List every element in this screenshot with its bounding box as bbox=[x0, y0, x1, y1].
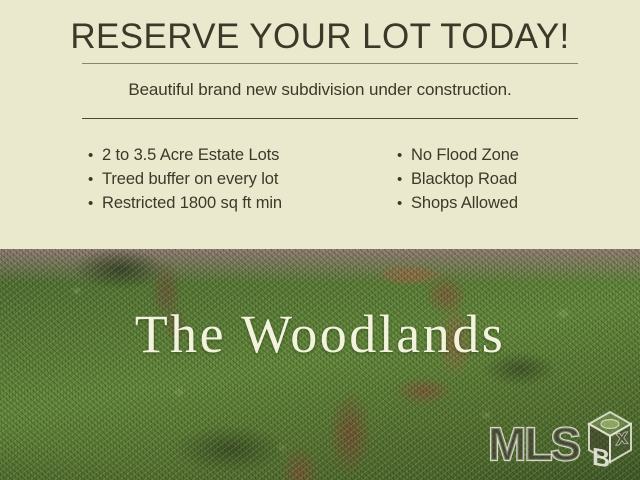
real-estate-flyer: RESERVE YOUR LOT TODAY! Beautiful brand … bbox=[0, 0, 640, 480]
list-item-label: Blacktop Road bbox=[411, 167, 517, 191]
list-item: • Restricted 1800 sq ft min bbox=[88, 191, 282, 215]
svg-text:MLS: MLS bbox=[488, 418, 579, 470]
property-name: The Woodlands bbox=[0, 301, 640, 367]
mlsbox-logo: MLS B x bbox=[486, 398, 632, 476]
list-item-label: 2 to 3.5 Acre Estate Lots bbox=[102, 143, 279, 167]
mlsbox-logo-icon: MLS B x bbox=[486, 398, 632, 476]
bullet-icon: • bbox=[88, 168, 102, 192]
feature-list: • 2 to 3.5 Acre Estate Lots • Treed buff… bbox=[0, 143, 640, 227]
page-title: RESERVE YOUR LOT TODAY! bbox=[0, 16, 640, 58]
list-item: • Shops Allowed bbox=[397, 191, 519, 215]
feature-column-left: • 2 to 3.5 Acre Estate Lots • Treed buff… bbox=[88, 143, 282, 215]
list-item: • Treed buffer on every lot bbox=[88, 167, 282, 191]
list-item: • 2 to 3.5 Acre Estate Lots bbox=[88, 143, 282, 167]
svg-text:x: x bbox=[616, 425, 628, 450]
bullet-icon: • bbox=[397, 168, 411, 192]
list-item-label: No Flood Zone bbox=[411, 143, 519, 167]
list-item-label: Shops Allowed bbox=[411, 191, 518, 215]
list-item: • Blacktop Road bbox=[397, 167, 519, 191]
svg-text:B: B bbox=[592, 443, 610, 474]
info-panel: RESERVE YOUR LOT TODAY! Beautiful brand … bbox=[0, 0, 640, 249]
subtitle: Beautiful brand new subdivision under co… bbox=[0, 78, 640, 102]
bullet-icon: • bbox=[397, 192, 411, 216]
bullet-icon: • bbox=[88, 144, 102, 168]
feature-column-right: • No Flood Zone • Blacktop Road • Shops … bbox=[397, 143, 519, 215]
bullet-icon: • bbox=[397, 144, 411, 168]
list-item: • No Flood Zone bbox=[397, 143, 519, 167]
divider-top bbox=[82, 63, 578, 64]
list-item-label: Restricted 1800 sq ft min bbox=[102, 191, 282, 215]
aerial-forest-photo: The Woodlands MLS bbox=[0, 249, 640, 480]
list-item-label: Treed buffer on every lot bbox=[102, 167, 278, 191]
bullet-icon: • bbox=[88, 192, 102, 216]
divider-bottom bbox=[82, 118, 578, 119]
